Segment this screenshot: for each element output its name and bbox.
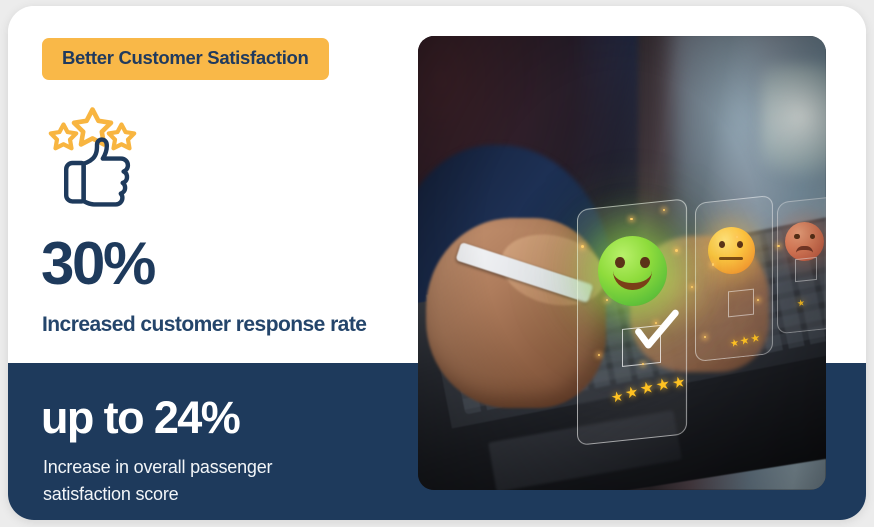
highlight-caption: Increase in overall passenger satisfacti… [43,454,363,508]
stat-number-30-percent: 30% [41,234,154,294]
photo-vignette [418,36,826,490]
highlight-number-up-to-24-percent: up to 24% [41,395,239,440]
thumbs-up-with-stars-icon [42,106,162,211]
badge-better-customer-satisfaction: Better Customer Satisfaction [42,38,329,80]
satisfaction-stat-card: Better Customer Satisfaction 30% Increas… [8,6,866,520]
screenshot-stage: Better Customer Satisfaction 30% Increas… [0,0,874,527]
stat-caption: Increased customer response rate [42,313,366,337]
customer-satisfaction-photo: ★ ★ ★ ★ ★ ★ ★ ★ ★ [418,36,826,490]
